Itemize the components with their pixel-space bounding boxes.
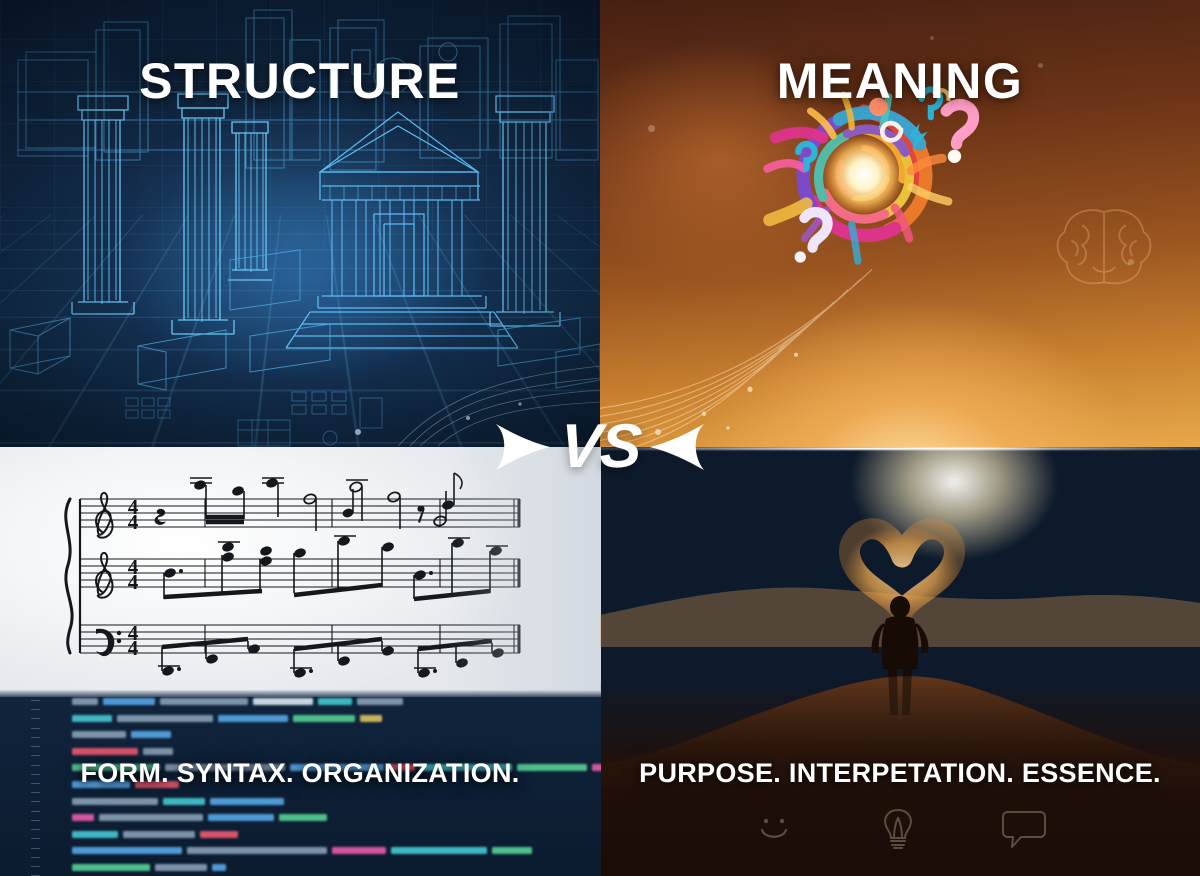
paper-shading: [445, 447, 601, 690]
svg-text:4: 4: [128, 570, 139, 594]
meaning-caption: PURPOSE. INTERPETATION. ESSENCE.: [600, 758, 1200, 789]
lightbulb-icon: [875, 806, 921, 852]
speech-bubble-icon: [999, 806, 1049, 852]
comparison-graphic: 44 44 44: [0, 0, 1200, 876]
svg-text:4: 4: [128, 510, 139, 534]
structure-title: STRUCTURE: [0, 52, 600, 110]
sheet-music-panel: 44 44 44: [0, 447, 601, 690]
structure-caption: FORM. SYNTAX. ORGANIZATION.: [0, 758, 600, 789]
svg-text:4: 4: [128, 636, 139, 660]
meaning-icon-row: [600, 806, 1200, 852]
smiley-icon: [751, 806, 797, 852]
meaning-title: MEANING: [600, 52, 1200, 110]
code-top-edge: [0, 690, 601, 697]
